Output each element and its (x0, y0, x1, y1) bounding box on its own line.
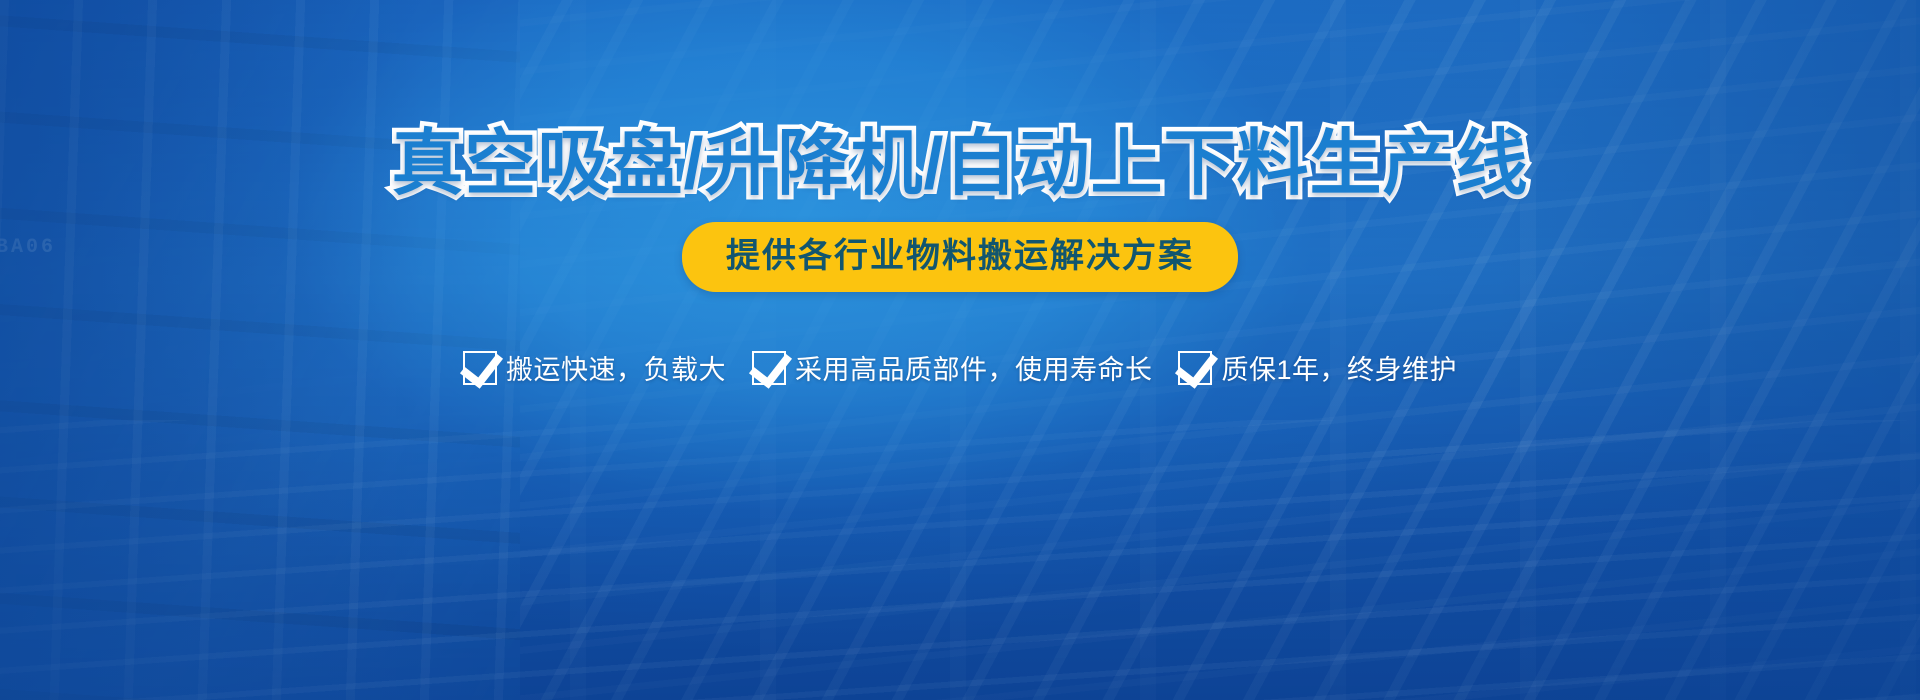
check-square-icon (463, 351, 497, 385)
feature-label-1: 搬运快速，负载大 (506, 348, 726, 387)
promo-banner: BA06 真空吸盘/升降机/自动上下料生产线 提供各行业物料搬运解决方案 搬运快… (0, 0, 1920, 700)
check-square-icon (752, 351, 786, 385)
solution-badge: 提供各行业物料搬运解决方案 (682, 222, 1238, 292)
feature-list: 搬运快速，负载大 采用高品质部件，使用寿命长 质保1年，终身维护 (463, 348, 1457, 387)
feature-label-3: 质保1年，终身维护 (1221, 348, 1457, 387)
feature-item-2: 采用高品质部件，使用寿命长 (752, 348, 1153, 387)
feature-item-1: 搬运快速，负载大 (463, 348, 726, 387)
check-square-icon (1178, 351, 1212, 385)
banner-badge-row: 提供各行业物料搬运解决方案 (682, 222, 1238, 292)
banner-content: 真空吸盘/升降机/自动上下料生产线 提供各行业物料搬运解决方案 搬运快速，负载大… (0, 0, 1920, 700)
feature-label-2: 采用高品质部件，使用寿命长 (795, 348, 1153, 387)
banner-headline: 真空吸盘/升降机/自动上下料生产线 (391, 128, 1528, 200)
feature-item-3: 质保1年，终身维护 (1178, 348, 1457, 387)
